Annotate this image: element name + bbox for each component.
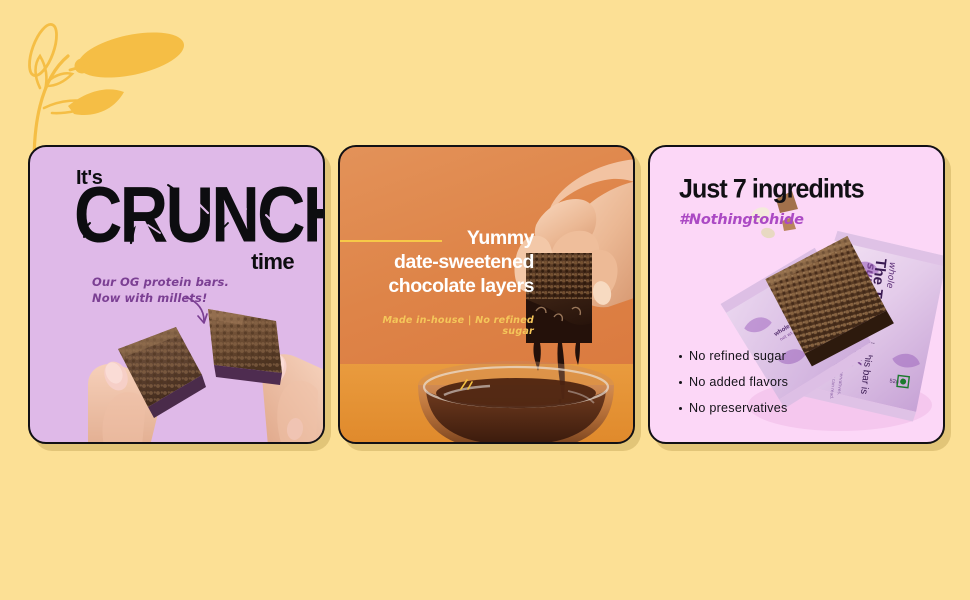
ingredients-bullet-list: No refined sugar No added flavors No pre…	[679, 349, 788, 427]
panel-ingredients[interactable]: whole The Truth is this bar is super cru…	[648, 145, 945, 444]
chocolate-headline-line1: Yummy	[354, 227, 534, 251]
crunch-headline: CRUNCH	[74, 185, 304, 247]
chocolate-headline: Yummy date-sweetened chocolate layers	[354, 227, 534, 299]
crunch-headline-group: It's CRUNCH time	[74, 171, 304, 270]
list-item-label: No preservatives	[689, 401, 788, 415]
bullet-dot-icon	[679, 407, 682, 410]
ingredients-title: Just 7 ingredints	[679, 174, 864, 205]
list-item-label: No refined sugar	[689, 349, 786, 363]
chocolate-headline-line3: chocolate layers	[354, 275, 534, 299]
promo-panel-row: It's CRUNCH time Our OG protein bars. No…	[28, 145, 946, 445]
chocolate-headline-line2: date-sweetened	[354, 251, 534, 275]
curved-arrow-icon	[182, 294, 210, 326]
bullet-dot-icon	[679, 355, 682, 358]
panel-chocolate[interactable]: Yummy date-sweetened chocolate layers Ma…	[338, 145, 635, 444]
list-item: No preservatives	[679, 401, 788, 415]
sparkle-icon	[458, 375, 478, 395]
list-item-label: No added flavors	[689, 375, 788, 389]
list-item: No refined sugar	[679, 349, 788, 363]
crunch-subtext-line1: Our OG protein bars.	[92, 275, 229, 291]
bullet-dot-icon	[679, 381, 682, 384]
chocolate-subtext: Made in-house | No refined sugar	[354, 315, 534, 337]
panel-crunch[interactable]: It's CRUNCH time Our OG protein bars. No…	[28, 145, 325, 444]
list-item: No added flavors	[679, 375, 788, 389]
ingredients-hashtag: #Nothingtohide	[679, 212, 804, 228]
